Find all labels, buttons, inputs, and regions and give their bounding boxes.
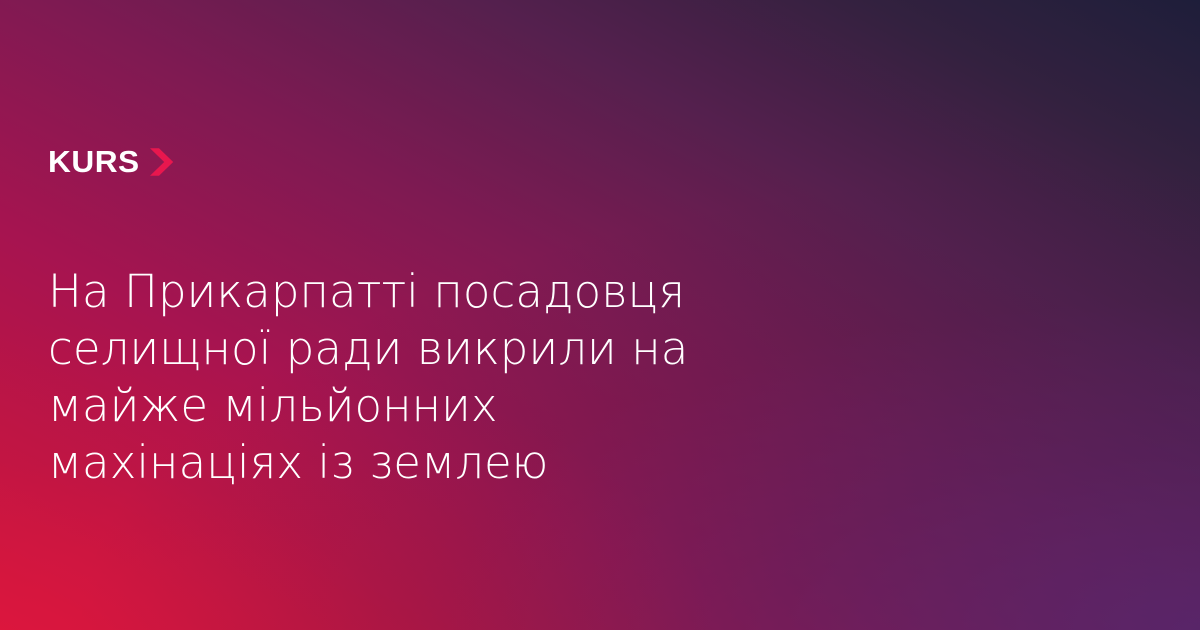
site-logo[interactable]: KURS [48, 146, 176, 177]
page-title: На Прикарпатті посадовця селищної ради в… [48, 263, 708, 491]
logo-wordmark: KURS [48, 146, 140, 177]
share-card: KURS На Прикарпатті посадовця селищної р… [0, 0, 1200, 630]
chevron-right-icon [147, 147, 176, 177]
